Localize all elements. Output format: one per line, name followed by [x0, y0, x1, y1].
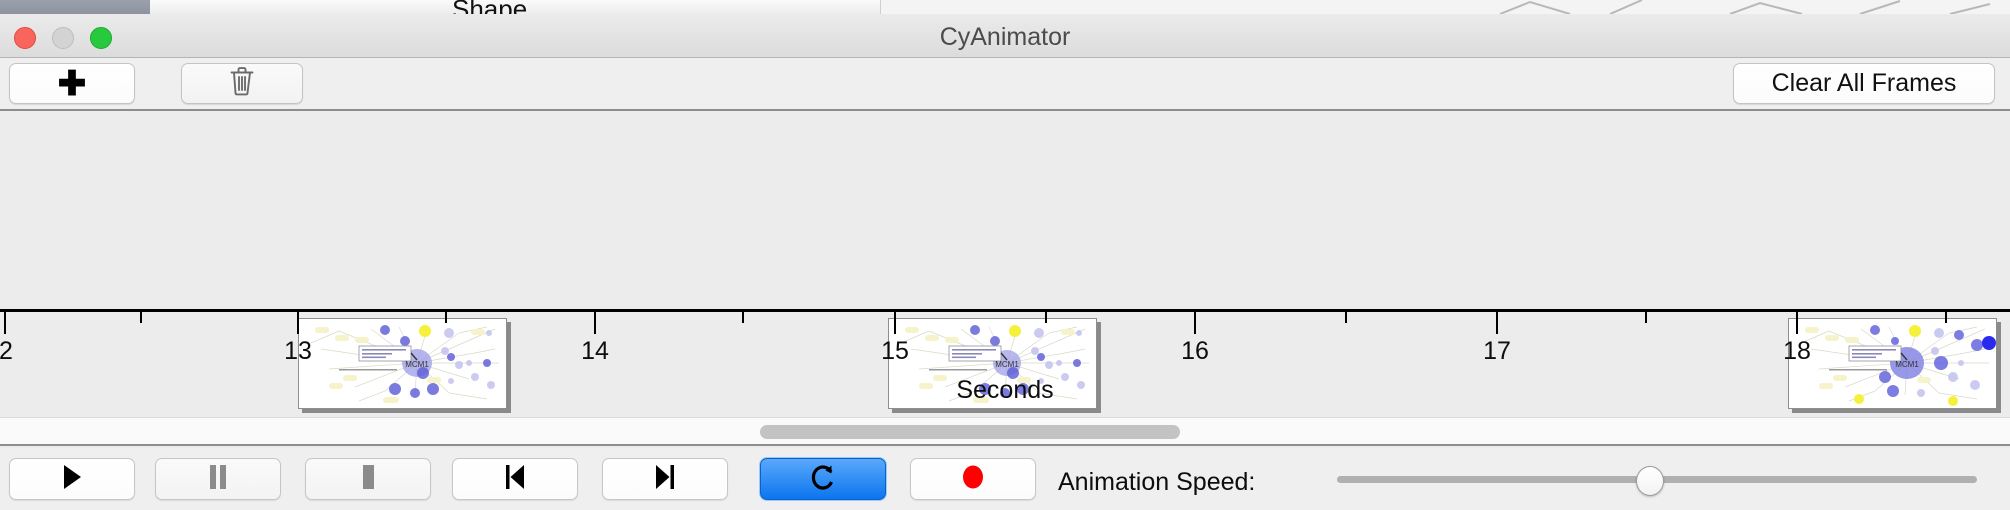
background-window-label: Shape [452, 0, 527, 15]
ruler-tick-label: 2 [0, 337, 13, 366]
ruler-tick-label: 17 [1483, 337, 1511, 366]
play-icon [61, 464, 83, 495]
ruler-tick-minor [1345, 312, 1347, 323]
ruler-tick-minor [1945, 312, 1947, 323]
skip-forward-icon [653, 464, 677, 495]
loop-button[interactable] [760, 458, 886, 500]
ruler-tick-minor [1645, 312, 1647, 323]
ruler-tick-major [1496, 312, 1498, 334]
timeline-panel[interactable]: MCM1 [0, 111, 2010, 417]
ruler-tick-minor [742, 312, 744, 323]
clear-all-frames-label: Clear All Frames [1772, 69, 1957, 98]
titlebar: CyAnimator [0, 14, 2010, 58]
trash-icon [229, 66, 255, 101]
add-frame-button[interactable]: ✚ [9, 63, 135, 104]
animation-speed-slider-knob[interactable] [1636, 466, 1664, 496]
ruler-tick-minor [445, 312, 447, 323]
toolbar: ✚ Clear All Frames [0, 58, 2010, 111]
stop-icon [357, 464, 379, 495]
ruler-tick-major [1194, 312, 1196, 334]
ruler-tick-label: 18 [1783, 337, 1811, 366]
timeline-scrollbar[interactable] [0, 417, 2010, 446]
timeline-ruler[interactable]: 2 13 14 15 16 17 18 Seconds [0, 309, 2010, 417]
background-cell [270, 0, 331, 14]
scrollbar-thumb[interactable] [760, 425, 1180, 439]
clear-all-frames-button[interactable]: Clear All Frames [1733, 63, 1995, 104]
pause-button[interactable] [155, 458, 281, 500]
stop-button[interactable] [305, 458, 431, 500]
ruler-tick-label: 15 [881, 337, 909, 366]
skip-to-start-button[interactable] [452, 458, 578, 500]
background-cell [550, 0, 621, 14]
background-network-fragment [1430, 0, 2010, 14]
background-cell [750, 0, 881, 14]
skip-to-end-button[interactable] [602, 458, 728, 500]
plus-icon: ✚ [58, 69, 87, 99]
ruler-tick-minor [140, 312, 142, 323]
delete-frame-button[interactable] [181, 63, 303, 104]
ruler-tick-label: 13 [284, 337, 312, 366]
ruler-tick-label: 14 [581, 337, 609, 366]
background-toolbar-dark [0, 0, 150, 14]
loop-icon [810, 463, 836, 496]
ruler-tick-major [894, 312, 896, 334]
ruler-baseline [0, 309, 2010, 312]
ruler-tick-major [594, 312, 596, 334]
ruler-tick-major [297, 312, 299, 334]
background-cell [150, 0, 211, 14]
pause-icon [207, 464, 229, 495]
background-cell [330, 0, 441, 14]
ruler-tick-label: 16 [1181, 337, 1209, 366]
window-title: CyAnimator [0, 23, 2010, 52]
background-cell [620, 0, 751, 14]
record-button[interactable] [910, 458, 1036, 500]
animation-speed-label: Animation Speed: [1058, 468, 1255, 497]
ruler-tick-major [1796, 312, 1798, 334]
ruler-tick-minor [1045, 312, 1047, 323]
play-button[interactable] [9, 458, 135, 500]
record-icon [960, 463, 986, 496]
background-cell [210, 0, 271, 14]
ruler-axis-title: Seconds [0, 376, 2010, 405]
ruler-tick-major [4, 312, 6, 334]
background-window-strip: Shape [0, 0, 2010, 15]
cyanimator-window: Shape CyAnimator ✚ [0, 0, 2010, 510]
skip-back-icon [503, 464, 527, 495]
